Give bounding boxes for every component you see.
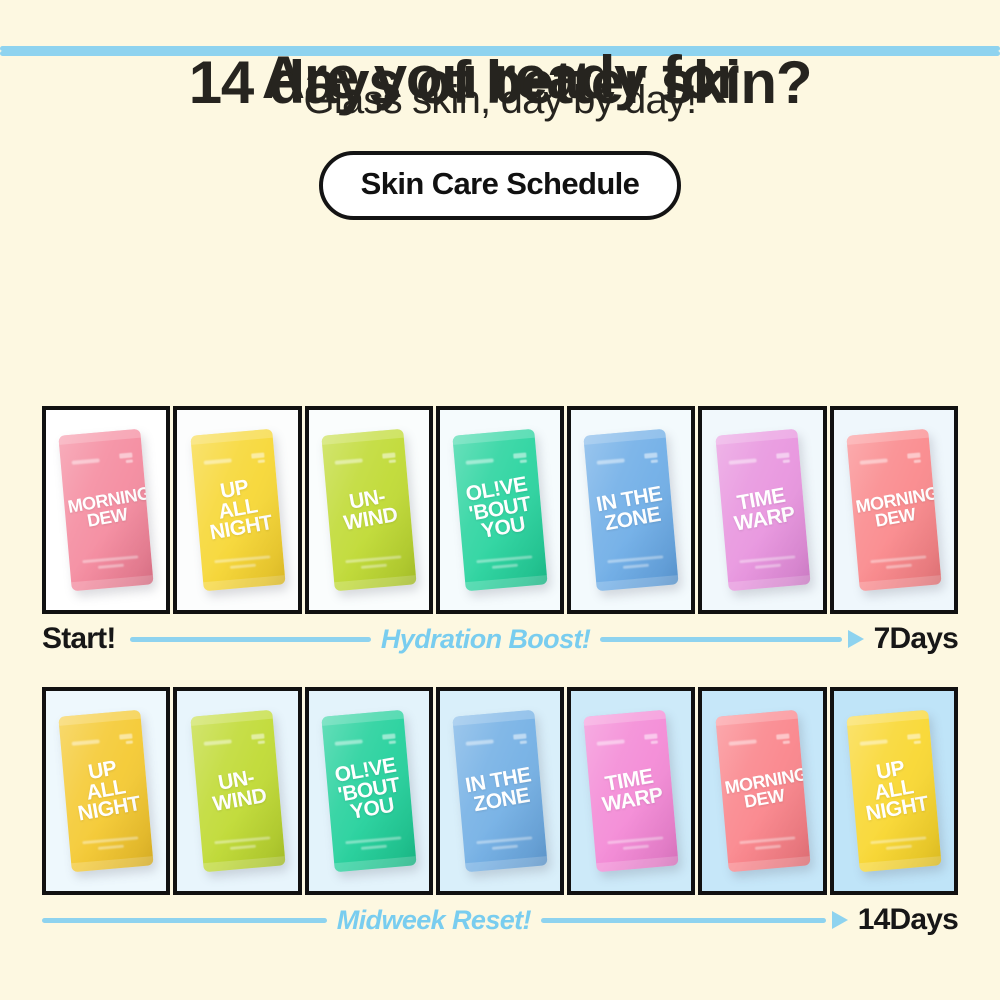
progress-track: Hydration Boost! [130, 624, 864, 655]
packet-crimp-bottom [465, 575, 547, 591]
week-1-card-row: MORNINGDEWUPALLNIGHTUN-WINDOL!VE'BOUTYOU… [42, 406, 958, 614]
brand-logo-icon [250, 734, 264, 745]
headline-line-2: 14 days of better skin? [0, 51, 1000, 56]
brand-wordmark [466, 459, 494, 465]
packet-fine-print [476, 555, 532, 570]
mask-packet: OL!VE'BOUTYOU [321, 710, 416, 873]
fine-print-line [870, 555, 926, 563]
packet-product-name: MORNINGDEW [63, 486, 149, 533]
brand-mark [728, 734, 789, 749]
brand-mark [860, 453, 921, 468]
packet-product-name: OL!VE'BOUTYOU [455, 473, 546, 545]
brand-wordmark [72, 459, 100, 465]
packet-crimp-top [321, 710, 403, 726]
brand-mark [597, 734, 658, 749]
skin-care-schedule-badge: Skin Care Schedule [319, 151, 682, 220]
brand-mark [335, 453, 396, 468]
brand-wordmark [729, 459, 757, 465]
page-title: Are you ready for 14 days of better skin… [0, 46, 1000, 56]
fine-print-volume [623, 844, 649, 849]
brand-logo-icon [644, 734, 658, 745]
brand-mark [466, 453, 527, 468]
week-2-card-row: UPALLNIGHTUN-WINDOL!VE'BOUTYOUIN THEZONE… [42, 687, 958, 895]
mask-packet: UPALLNIGHT [846, 710, 941, 873]
brand-logo-bar [388, 460, 396, 464]
fine-print-line [870, 836, 926, 844]
brand-logo-bar [513, 734, 527, 740]
packet-product-name: UN-WIND [325, 483, 412, 536]
packet-fine-print [739, 836, 795, 851]
packet-crimp-bottom [334, 575, 416, 591]
brand-logo-bar [907, 453, 921, 459]
packet-crimp-bottom [203, 856, 285, 872]
packet-fine-print [476, 836, 532, 851]
brand-logo-icon [775, 453, 789, 464]
fine-print-volume [623, 563, 649, 568]
packet-product-name: MORNINGDEW [851, 486, 937, 533]
progress-end-label: 7Days [874, 622, 958, 656]
mask-packet: UN-WIND [321, 429, 416, 592]
fine-print-line [739, 555, 795, 563]
packet-crimp-bottom [597, 856, 679, 872]
mask-card[interactable]: IN THEZONE [567, 406, 695, 614]
brand-logo-bar [119, 453, 133, 459]
arrow-right-icon [832, 911, 848, 929]
packet-product-name: UPALLNIGHT [61, 754, 152, 826]
mask-card[interactable]: TIMEWARP [567, 687, 695, 895]
fine-print-volume [361, 844, 387, 849]
brand-mark [203, 734, 264, 749]
progress-end-label: 14Days [858, 903, 958, 937]
brand-logo-icon [513, 453, 527, 464]
fine-print-volume [229, 844, 255, 849]
mask-card[interactable]: UN-WIND [305, 406, 433, 614]
packet-product-name: TIMEWARP [588, 764, 675, 817]
brand-logo-bar [126, 741, 134, 745]
mask-packet: UPALLNIGHT [59, 710, 154, 873]
brand-mark [860, 734, 921, 749]
fine-print-line [345, 836, 401, 844]
packet-crimp-bottom [859, 856, 941, 872]
packet-crimp-bottom [203, 575, 285, 591]
mask-packet: TIMEWARP [715, 429, 810, 592]
progress-track: Midweek Reset! [42, 905, 848, 936]
mask-card[interactable]: MORNINGDEW [698, 687, 826, 895]
packet-product-name: OL!VE'BOUTYOU [323, 754, 414, 826]
fine-print-volume [755, 563, 781, 568]
brand-wordmark [72, 740, 100, 746]
brand-logo-bar [257, 460, 265, 464]
brand-logo-bar [782, 460, 790, 464]
packet-fine-print [214, 836, 270, 851]
brand-logo-icon [382, 734, 396, 745]
mask-card[interactable]: UPALLNIGHT [830, 687, 958, 895]
brand-logo-icon [644, 453, 658, 464]
packet-fine-print [214, 555, 270, 570]
fine-print-volume [98, 844, 124, 849]
fine-print-volume [361, 563, 387, 568]
brand-wordmark [335, 740, 363, 746]
brand-logo-icon [907, 453, 921, 464]
packet-fine-print [870, 555, 926, 570]
packet-crimp-bottom [728, 856, 810, 872]
packet-crimp-bottom [71, 856, 153, 872]
packet-fine-print [870, 836, 926, 851]
packet-crimp-top [715, 710, 797, 726]
brand-mark [728, 453, 789, 468]
packet-product-name: UPALLNIGHT [848, 754, 939, 826]
fine-print-volume [492, 563, 518, 568]
packet-product-name: UPALLNIGHT [192, 473, 283, 545]
packet-product-name: UN-WIND [194, 764, 281, 817]
brand-logo-icon [907, 734, 921, 745]
packet-crimp-top [59, 429, 141, 445]
mask-packet: MORNINGDEW [715, 710, 810, 873]
fine-print-line [83, 555, 139, 563]
mask-card[interactable]: UPALLNIGHT [42, 687, 170, 895]
brand-logo-bar [651, 460, 659, 464]
mask-packet: OL!VE'BOUTYOU [452, 429, 547, 592]
mask-card[interactable]: OL!VE'BOUTYOU [305, 687, 433, 895]
brand-wordmark [597, 740, 625, 746]
packet-fine-print [345, 836, 401, 851]
brand-logo-bar [513, 453, 527, 459]
brand-mark [597, 453, 658, 468]
packet-fine-print [608, 555, 664, 570]
progress-line-left [42, 918, 327, 923]
brand-logo-bar [119, 734, 133, 740]
packet-crimp-top [584, 710, 666, 726]
mask-packet: UN-WIND [190, 710, 285, 873]
brand-mark [72, 453, 133, 468]
packet-crimp-bottom [334, 856, 416, 872]
mask-packet: IN THEZONE [584, 429, 679, 592]
fine-print-line [608, 555, 664, 563]
brand-logo-bar [257, 741, 265, 745]
brand-logo-bar [913, 741, 921, 745]
packet-product-name: MORNINGDEW [719, 767, 805, 814]
brand-mark [203, 453, 264, 468]
mask-card[interactable]: MORNINGDEW [830, 406, 958, 614]
brand-logo-bar [250, 453, 264, 459]
packet-crimp-top [59, 710, 141, 726]
badge-container: Skin Care Schedule [0, 151, 1000, 220]
packet-crimp-bottom [465, 856, 547, 872]
fine-print-line [476, 555, 532, 563]
brand-logo-bar [382, 453, 396, 459]
brand-logo-bar [907, 734, 921, 740]
fine-print-volume [229, 563, 255, 568]
fine-print-volume [886, 563, 912, 568]
brand-logo-bar [651, 741, 659, 745]
mask-packet: MORNINGDEW [846, 429, 941, 592]
subheadline: Glass skin, day by day! [0, 78, 1000, 123]
mask-packet: MORNINGDEW [59, 429, 154, 592]
packet-fine-print [345, 555, 401, 570]
packet-crimp-top [321, 429, 403, 445]
mask-card[interactable]: UN-WIND [173, 687, 301, 895]
brand-logo-icon [119, 453, 133, 464]
brand-wordmark [204, 740, 232, 746]
brand-logo-icon [250, 453, 264, 464]
brand-mark [335, 734, 396, 749]
packet-crimp-top [846, 429, 928, 445]
arrow-right-icon [848, 630, 864, 648]
packet-crimp-top [190, 710, 272, 726]
fine-print-line [83, 836, 139, 844]
brand-wordmark [860, 740, 888, 746]
mask-packet: TIMEWARP [584, 710, 679, 873]
packet-fine-print [608, 836, 664, 851]
fine-print-line [214, 836, 270, 844]
packet-crimp-bottom [71, 575, 153, 591]
progress-phase-label: Midweek Reset! [337, 905, 531, 936]
mask-card[interactable]: TIMEWARP [698, 406, 826, 614]
packet-product-name: IN THEZONE [456, 764, 543, 817]
week-1-progress: Start!Hydration Boost!7Days [42, 617, 958, 661]
brand-logo-icon [775, 734, 789, 745]
mask-card[interactable]: OL!VE'BOUTYOU [436, 406, 564, 614]
fine-print-line [214, 555, 270, 563]
brand-logo-bar [519, 460, 527, 464]
fine-print-volume [492, 844, 518, 849]
brand-wordmark [597, 459, 625, 465]
brand-logo-bar [775, 734, 789, 740]
mask-card[interactable]: UPALLNIGHT [173, 406, 301, 614]
brand-logo-bar [126, 460, 134, 464]
packet-crimp-bottom [859, 575, 941, 591]
packet-product-name: TIMEWARP [719, 483, 806, 536]
brand-mark [72, 734, 133, 749]
mask-card[interactable]: MORNINGDEW [42, 406, 170, 614]
brand-logo-bar [644, 734, 658, 740]
packet-crimp-bottom [728, 575, 810, 591]
packet-crimp-top [452, 710, 534, 726]
packet-crimp-top [190, 429, 272, 445]
brand-logo-bar [382, 734, 396, 740]
packet-crimp-top [452, 429, 534, 445]
brand-logo-bar [644, 453, 658, 459]
mask-card[interactable]: IN THEZONE [436, 687, 564, 895]
packet-crimp-top [846, 710, 928, 726]
fine-print-volume [755, 844, 781, 849]
fine-print-line [739, 836, 795, 844]
packet-fine-print [83, 836, 139, 851]
packet-crimp-bottom [597, 575, 679, 591]
brand-logo-icon [382, 453, 396, 464]
week-2-progress: Midweek Reset!14Days [42, 898, 958, 942]
progress-line-right [600, 637, 841, 642]
progress-line-left [130, 637, 371, 642]
brand-logo-bar [775, 453, 789, 459]
mask-packet: IN THEZONE [452, 710, 547, 873]
brand-logo-icon [513, 734, 527, 745]
brand-logo-bar [519, 741, 527, 745]
packet-fine-print [83, 555, 139, 570]
brand-wordmark [335, 459, 363, 465]
mask-packet: UPALLNIGHT [190, 429, 285, 592]
brand-wordmark [204, 459, 232, 465]
progress-start-label: Start! [42, 622, 116, 656]
fine-print-line [608, 836, 664, 844]
brand-wordmark [860, 459, 888, 465]
brand-logo-bar [913, 460, 921, 464]
header: Are you ready for 14 days of better skin… [0, 0, 1000, 220]
brand-logo-bar [782, 741, 790, 745]
progress-phase-label: Hydration Boost! [381, 624, 590, 655]
packet-product-name: IN THEZONE [588, 483, 675, 536]
packet-fine-print [739, 555, 795, 570]
fine-print-volume [886, 844, 912, 849]
progress-line-right [541, 918, 826, 923]
fine-print-line [345, 555, 401, 563]
brand-mark [466, 734, 527, 749]
packet-crimp-top [584, 429, 666, 445]
brand-logo-icon [119, 734, 133, 745]
brand-logo-bar [250, 734, 264, 740]
brand-wordmark [466, 740, 494, 746]
packet-crimp-top [715, 429, 797, 445]
brand-wordmark [729, 740, 757, 746]
fine-print-volume [98, 563, 124, 568]
fine-print-line [476, 836, 532, 844]
brand-logo-bar [388, 741, 396, 745]
